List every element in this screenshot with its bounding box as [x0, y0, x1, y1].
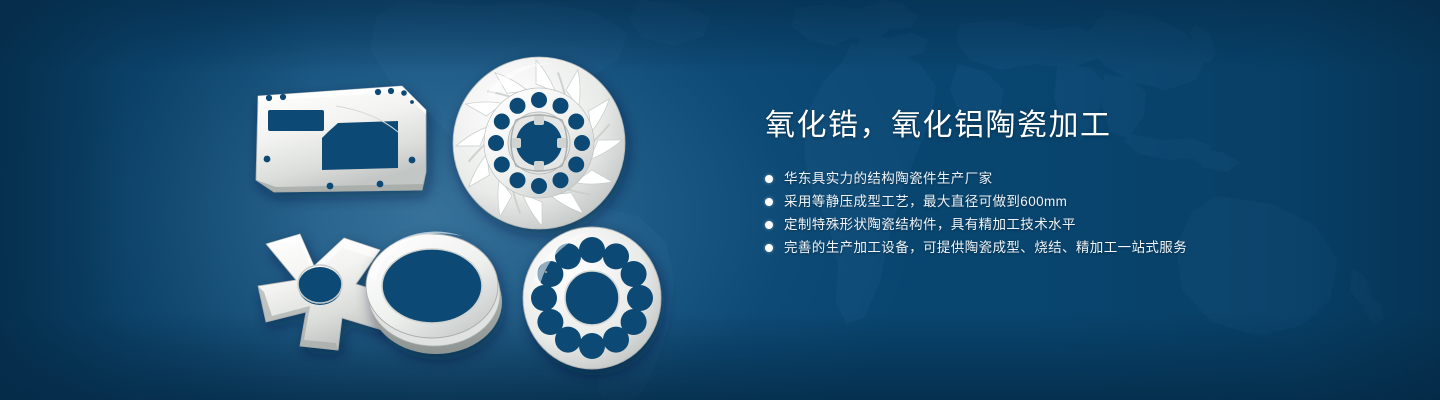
list-item: 采用等静压成型工艺，最大直径可做到600mm	[765, 191, 1405, 213]
bullet-dot-icon	[765, 244, 773, 252]
bullet-dot-icon	[765, 175, 773, 183]
list-item-label: 定制特殊形状陶瓷结构件，具有精加工技术水平	[784, 214, 1076, 236]
list-item-label: 采用等静压成型工艺，最大直径可做到600mm	[784, 191, 1067, 213]
list-item: 华东具实力的结构陶瓷件生产厂家	[765, 168, 1405, 190]
banner-copy: 氧化锆，氧化铝陶瓷加工 华东具实力的结构陶瓷件生产厂家 采用等静压成型工艺，最大…	[765, 108, 1405, 260]
ceramic-machined-plate	[252, 80, 432, 198]
list-item: 完善的生产加工设备，可提供陶瓷成型、烧结、精加工一站式服务	[765, 237, 1405, 259]
ceramic-perforated-disc	[520, 224, 665, 372]
bullet-dot-icon	[765, 221, 773, 229]
page-title: 氧化锆，氧化铝陶瓷加工	[765, 108, 1405, 144]
bullet-dot-icon	[765, 198, 773, 206]
list-item: 定制特殊形状陶瓷结构件，具有精加工技术水平	[765, 214, 1405, 236]
ceramic-ring-stack	[352, 224, 517, 364]
list-item-label: 华东具实力的结构陶瓷件生产厂家	[784, 168, 993, 190]
list-item-label: 完善的生产加工设备，可提供陶瓷成型、烧结、精加工一站式服务	[784, 237, 1187, 259]
ceramic-impeller-disc	[448, 52, 630, 234]
product-showcase	[0, 0, 700, 400]
feature-list: 华东具实力的结构陶瓷件生产厂家 采用等静压成型工艺，最大直径可做到600mm 定…	[765, 168, 1405, 259]
hero-banner: 氧化锆，氧化铝陶瓷加工 华东具实力的结构陶瓷件生产厂家 采用等静压成型工艺，最大…	[0, 0, 1440, 400]
